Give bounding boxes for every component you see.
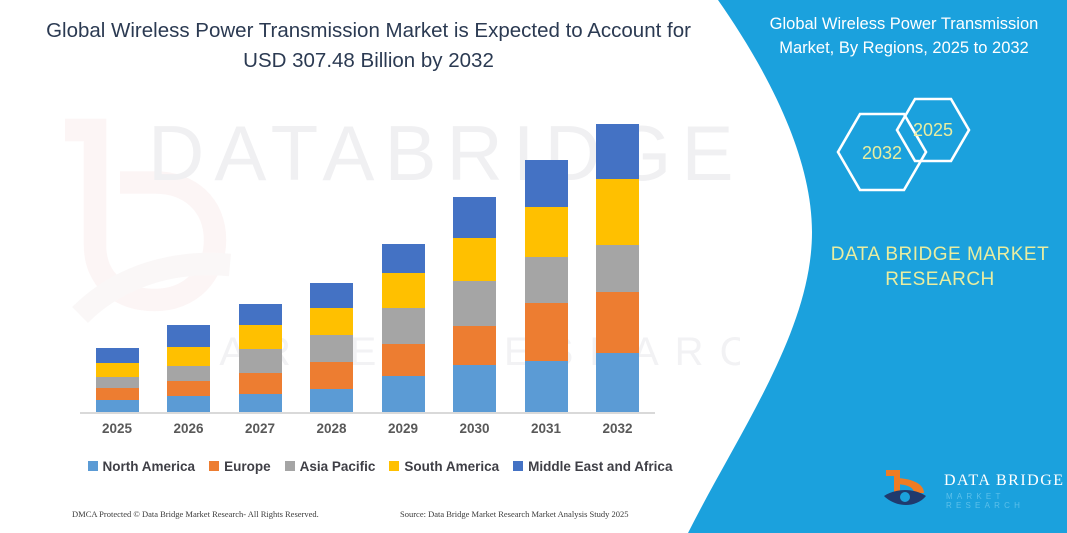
bar-segment <box>453 365 496 413</box>
bar-segment <box>596 292 639 354</box>
bar-segment <box>453 326 496 365</box>
x-axis-labels: 20252026202720282029203020312032 <box>80 421 660 445</box>
legend-label: Europe <box>224 459 271 474</box>
bar-segment <box>382 344 425 376</box>
bar-segment <box>382 244 425 273</box>
bar-segment <box>167 396 210 413</box>
bar-segment <box>525 361 568 413</box>
legend-item[interactable]: South America <box>389 459 499 474</box>
bar-segment <box>239 373 282 394</box>
legend-swatch-icon <box>285 461 295 471</box>
x-axis-tick-label: 2030 <box>440 421 510 436</box>
bar-segment <box>96 377 139 388</box>
legend-item[interactable]: Asia Pacific <box>285 459 376 474</box>
legend-item[interactable]: North America <box>88 459 196 474</box>
bar-segment <box>453 281 496 326</box>
x-axis-tick-label: 2025 <box>82 421 152 436</box>
bar-segment <box>596 124 639 179</box>
brand-name-line1: DATA BRIDGE MARKET <box>790 244 1067 266</box>
x-axis-tick-label: 2029 <box>368 421 438 436</box>
legend-label: Middle East and Africa <box>528 459 672 474</box>
bar-segment <box>310 335 353 362</box>
bar-column <box>453 197 496 413</box>
x-axis-tick-label: 2026 <box>154 421 224 436</box>
x-axis-tick-label: 2032 <box>583 421 653 436</box>
logo-wordmark: DATA BRIDGE <box>944 472 1065 490</box>
infographic-root: DATABRIDGE MARKET RESEARCH Global Wirele… <box>0 0 1067 533</box>
chart-legend: North AmericaEuropeAsia PacificSouth Ame… <box>80 456 680 476</box>
x-axis-tick-label: 2028 <box>297 421 367 436</box>
bar-segment <box>167 347 210 366</box>
panel-title: Global Wireless Power Transmission Marke… <box>748 12 1060 60</box>
bar-segment <box>96 388 139 400</box>
bar-segment <box>167 381 210 396</box>
bar-segment <box>239 304 282 326</box>
page-title: Global Wireless Power Transmission Marke… <box>46 16 691 76</box>
bar-segment <box>239 394 282 413</box>
bar-segment <box>525 207 568 257</box>
bar-column <box>310 283 353 413</box>
bar-column <box>167 325 210 413</box>
bar-column <box>382 244 425 413</box>
bar-segment <box>596 245 639 292</box>
bar-segment <box>382 308 425 344</box>
bar-segment <box>525 257 568 302</box>
legend-label: North America <box>103 459 196 474</box>
hexagon-2025-label: 2025 <box>913 120 953 140</box>
legend-item[interactable]: Middle East and Africa <box>513 459 672 474</box>
bar-segment <box>596 353 639 413</box>
bar-column <box>96 348 139 413</box>
legend-swatch-icon <box>389 461 399 471</box>
bar-segment <box>167 366 210 380</box>
footer-copyright: DMCA Protected © Data Bridge Market Rese… <box>72 509 319 519</box>
legend-label: Asia Pacific <box>300 459 376 474</box>
bar-segment <box>310 283 353 308</box>
bar-segment <box>239 349 282 373</box>
bar-column <box>596 124 639 413</box>
hexagon-2032-label: 2032 <box>862 143 902 163</box>
footer-source: Source: Data Bridge Market Research Mark… <box>400 509 629 519</box>
x-axis-line <box>80 412 655 414</box>
bar-column <box>525 160 568 413</box>
logo-tagline: MARKET RESEARCH <box>946 492 1067 510</box>
bar-segment <box>239 325 282 349</box>
bar-segment <box>453 197 496 238</box>
legend-swatch-icon <box>88 461 98 471</box>
bar-segment <box>596 179 639 245</box>
bar-segment <box>382 376 425 413</box>
bar-segment <box>310 389 353 413</box>
bar-segment <box>96 363 139 377</box>
legend-label: South America <box>404 459 499 474</box>
legend-swatch-icon <box>513 461 523 471</box>
legend-item[interactable]: Europe <box>209 459 271 474</box>
brand-name-line2: RESEARCH <box>790 269 1067 291</box>
x-axis-tick-label: 2031 <box>511 421 581 436</box>
bar-column <box>239 304 282 413</box>
hexagon-badges: 2032 2025 <box>820 92 1020 212</box>
bar-segment <box>453 238 496 281</box>
bar-segment <box>167 325 210 347</box>
stacked-bar-chart <box>80 110 660 413</box>
bar-segment <box>525 303 568 361</box>
bar-segment <box>525 160 568 208</box>
bar-segment <box>382 273 425 308</box>
legend-swatch-icon <box>209 461 219 471</box>
x-axis-tick-label: 2027 <box>225 421 295 436</box>
bar-segment <box>310 308 353 335</box>
bar-segment <box>310 362 353 389</box>
bar-segment <box>96 348 139 363</box>
